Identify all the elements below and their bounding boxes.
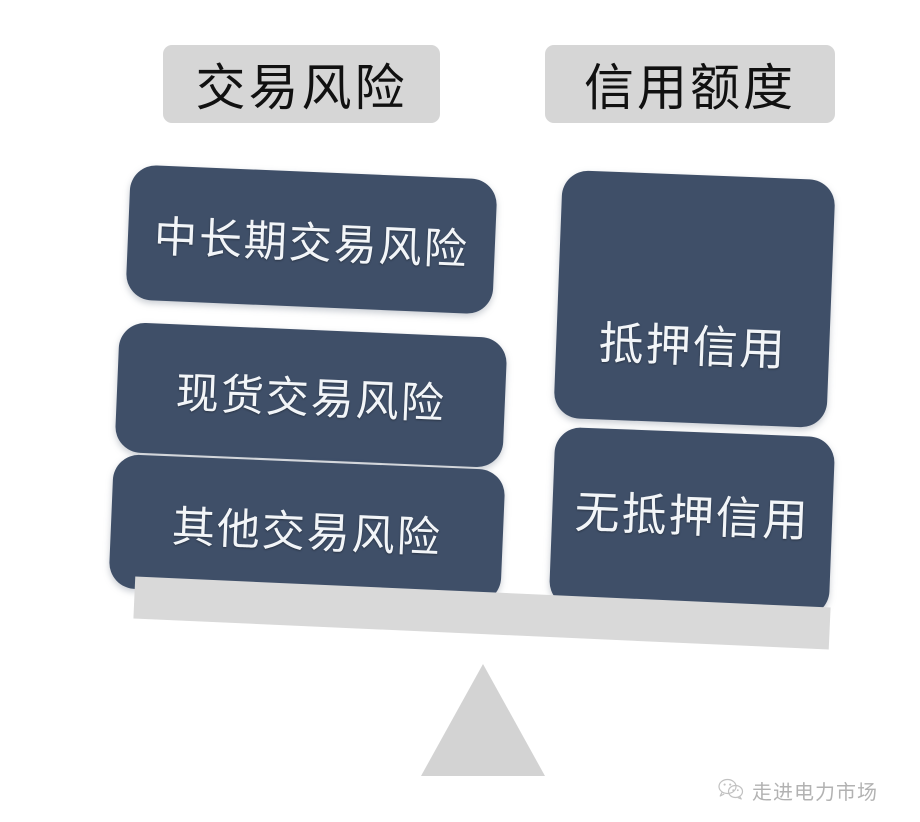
header-right-label: 信用额度 <box>584 48 796 120</box>
balance-fulcrum-triangle <box>421 664 545 776</box>
card-spot-transaction-risk: 现货交易风险 <box>114 322 507 468</box>
header-left-label: 交易风险 <box>196 48 408 120</box>
watermark: 走进电力市场 <box>718 776 878 805</box>
wechat-icon <box>718 778 744 804</box>
card-label: 抵押信用 <box>598 306 788 378</box>
card-label: 现货交易风险 <box>175 358 447 431</box>
header-credit-limit: 信用额度 <box>545 45 835 123</box>
card-label: 中长期交易风险 <box>153 202 470 277</box>
card-secured-credit: 抵押信用 <box>553 170 835 428</box>
watermark-label: 走进电力市场 <box>752 776 878 805</box>
card-label: 其他交易风险 <box>171 492 443 565</box>
diagram-canvas: 交易风险 信用额度 中长期交易风险 现货交易风险 其他交易风险 抵押信用 无抵押… <box>0 0 920 822</box>
card-label: 无抵押信用 <box>574 476 811 550</box>
card-unsecured-credit: 无抵押信用 <box>549 427 836 618</box>
card-long-term-transaction-risk: 中长期交易风险 <box>125 164 497 314</box>
header-transaction-risk: 交易风险 <box>163 45 440 123</box>
